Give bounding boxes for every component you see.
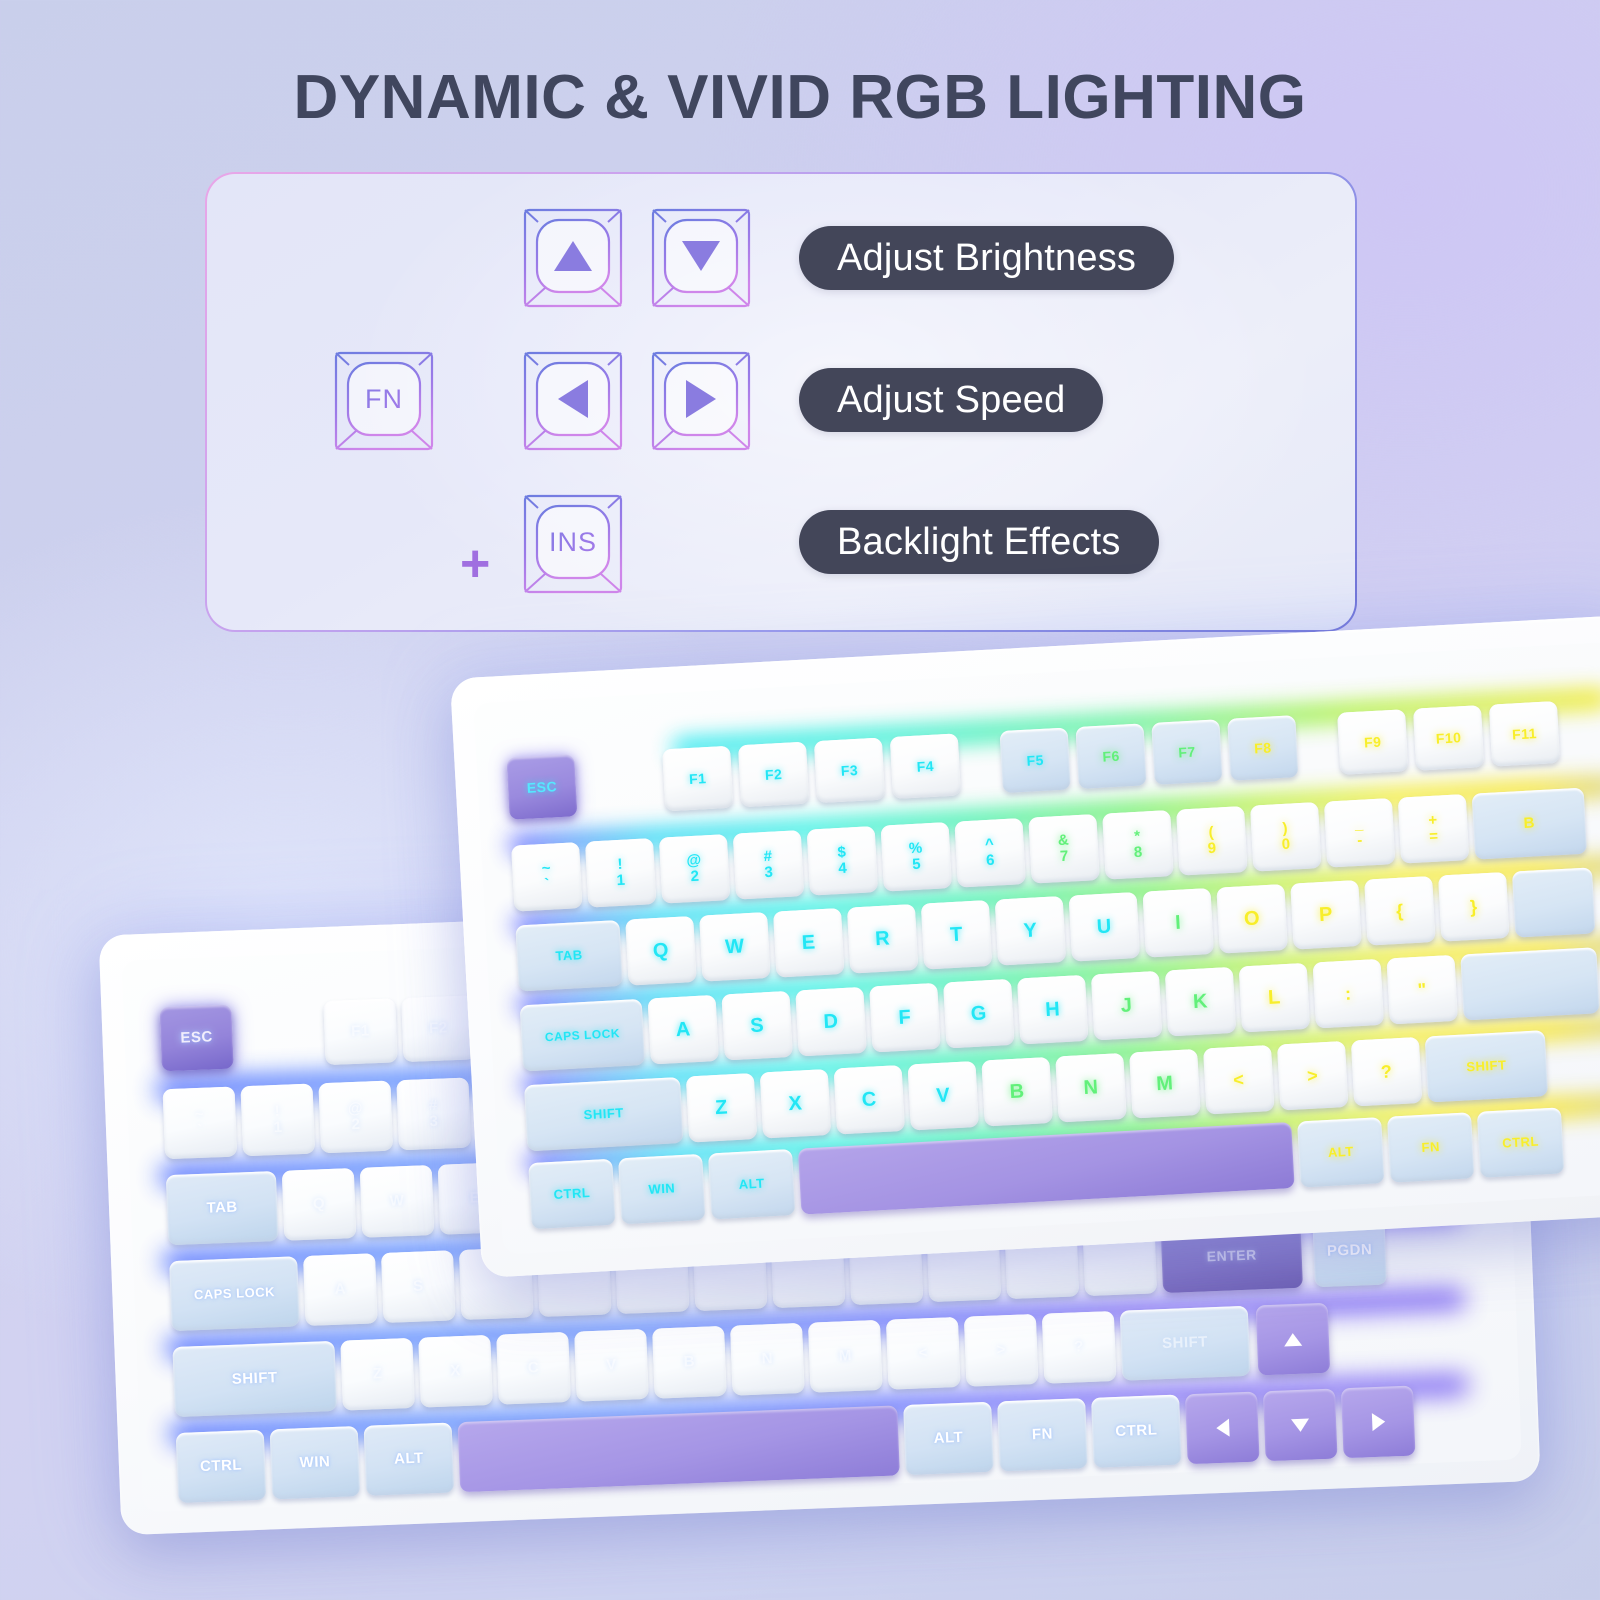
key-legend-bottom: 0	[1281, 837, 1291, 853]
key-fn[interactable]: FN	[1387, 1112, 1474, 1182]
key-u[interactable]: U	[1069, 892, 1140, 962]
key-a[interactable]: A	[303, 1253, 378, 1326]
key-bracket-right[interactable]: }	[1438, 872, 1509, 942]
key-e[interactable]: E	[773, 908, 844, 978]
key-s[interactable]: S	[381, 1250, 456, 1323]
key-legend-top: (	[1208, 825, 1214, 841]
key-legend-bottom: 5	[912, 857, 922, 873]
key-m[interactable]: M	[1129, 1049, 1200, 1119]
key-i[interactable]: I	[1142, 888, 1213, 958]
key-legend-bottom: 2	[351, 1117, 360, 1133]
key-f3[interactable]: F3	[814, 738, 885, 804]
key-legend-bottom: 3	[764, 865, 774, 881]
key-h[interactable]: H	[1017, 975, 1088, 1045]
key-a[interactable]: A	[648, 995, 719, 1065]
arrow-down-icon	[1291, 1418, 1309, 1432]
key-slash[interactable]: ?	[1042, 1311, 1117, 1384]
pill-backlight-effects: Backlight Effects	[799, 510, 1159, 574]
key-o[interactable]: O	[1216, 884, 1287, 954]
arrow-up-icon	[1284, 1332, 1302, 1346]
key-shift-right[interactable]: SHIFT	[1425, 1030, 1548, 1102]
key-legend-top: #	[429, 1098, 438, 1114]
key-s[interactable]: S	[721, 991, 792, 1061]
key-z[interactable]: Z	[686, 1073, 757, 1143]
keyboard-plate: ESC F1 F2 F3 F4 F5 F6 F7 F8 F9 F10 F11 ~…	[473, 642, 1600, 1255]
top-rgb-keyboard[interactable]: ESC F1 F2 F3 F4 F5 F6 F7 F8 F9 F10 F11 ~…	[450, 615, 1600, 1278]
keycap-arrow-right	[649, 349, 753, 453]
key-legend-bottom: -	[1357, 833, 1363, 849]
key-v[interactable]: V	[907, 1061, 978, 1131]
key-alt-right[interactable]: ALT	[903, 1402, 994, 1475]
key-z[interactable]: Z	[340, 1338, 415, 1411]
key-arrow-left[interactable]	[1185, 1392, 1260, 1465]
key-f10[interactable]: F10	[1413, 705, 1484, 771]
key-w[interactable]: W	[699, 912, 770, 982]
key-backtick[interactable]: ~ `	[163, 1087, 238, 1160]
key-4[interactable]: $ 4	[807, 826, 878, 896]
key-win[interactable]: WIN	[270, 1426, 361, 1499]
key-l[interactable]: L	[1239, 963, 1310, 1033]
key-esc[interactable]: ESC	[159, 1005, 233, 1072]
key-3[interactable]: # 3	[733, 830, 804, 900]
key-caps-lock[interactable]: CAPS LOCK	[520, 999, 645, 1072]
key-v[interactable]: V	[574, 1329, 649, 1402]
key-shift-left[interactable]: SHIFT	[524, 1077, 683, 1151]
key-t[interactable]: T	[921, 900, 992, 970]
key-f2[interactable]: F2	[738, 742, 809, 808]
key-9[interactable]: ( 9	[1176, 806, 1247, 876]
key-legend-top: @	[348, 1101, 364, 1117]
key-backspace[interactable]: B	[1472, 788, 1587, 860]
key-n[interactable]: N	[730, 1323, 805, 1396]
key-alt-left[interactable]: ALT	[364, 1422, 455, 1495]
key-tab[interactable]: TAB	[166, 1171, 279, 1245]
key-arrow-down[interactable]	[1263, 1389, 1338, 1462]
key-j[interactable]: J	[1091, 971, 1162, 1041]
key-legend-top: !	[617, 857, 623, 873]
ins-key-label: INS	[521, 492, 625, 596]
key-legend-top: !	[274, 1104, 280, 1120]
key-legend-bottom: 8	[1134, 845, 1144, 861]
pill-adjust-brightness: Adjust Brightness	[799, 226, 1174, 290]
arrow-left-icon	[1215, 1419, 1229, 1437]
key-x[interactable]: X	[418, 1335, 493, 1408]
key-1[interactable]: ! 1	[585, 838, 656, 908]
key-g[interactable]: G	[943, 979, 1014, 1049]
key-legend-bottom: 1	[616, 873, 626, 889]
key-c[interactable]: C	[496, 1332, 571, 1405]
keycap-arrow-up	[521, 206, 625, 310]
key-period[interactable]: >	[964, 1314, 1039, 1387]
arrow-right-icon	[1371, 1413, 1385, 1431]
key-2[interactable]: @ 2	[318, 1081, 393, 1154]
key-3[interactable]: # 3	[396, 1078, 471, 1151]
key-legend-top: %	[908, 841, 923, 857]
fn-key-label: FN	[332, 349, 436, 453]
key-q[interactable]: Q	[625, 916, 696, 986]
key-enter[interactable]	[1460, 947, 1599, 1020]
key-q[interactable]: Q	[282, 1168, 357, 1241]
key-f[interactable]: F	[869, 983, 940, 1053]
key-d[interactable]: D	[795, 987, 866, 1057]
pill-adjust-speed: Adjust Speed	[799, 368, 1103, 432]
key-k[interactable]: K	[1165, 967, 1236, 1037]
key-p[interactable]: P	[1290, 880, 1361, 950]
key-0[interactable]: ) 0	[1250, 802, 1321, 872]
key-slash[interactable]: ?	[1351, 1037, 1422, 1107]
key-legend-bottom: 4	[838, 861, 848, 877]
key-f1[interactable]: F1	[662, 746, 733, 812]
key-backtick[interactable]: ~ `	[511, 842, 582, 912]
key-semicolon[interactable]: :	[1313, 959, 1384, 1029]
key-ctrl-right[interactable]: CTRL	[1477, 1107, 1564, 1177]
keycap-fn: FN	[332, 349, 436, 453]
key-legend-bottom: `	[544, 877, 550, 893]
key-b[interactable]: B	[652, 1326, 727, 1399]
key-n[interactable]: N	[1055, 1053, 1126, 1123]
key-alt-right[interactable]: ALT	[1297, 1117, 1384, 1187]
key-f8[interactable]: F8	[1227, 715, 1298, 781]
key-6[interactable]: ^ 6	[954, 818, 1025, 888]
arrow-down-icon	[649, 206, 753, 310]
key-f9[interactable]: F9	[1337, 709, 1408, 775]
key-legend-bottom: =	[1429, 829, 1439, 845]
key-alt-left[interactable]: ALT	[708, 1149, 795, 1219]
key-f11[interactable]: F11	[1489, 701, 1560, 767]
key-equal[interactable]: + =	[1398, 794, 1469, 864]
key-f4[interactable]: F4	[890, 733, 961, 799]
key-ctrl-left[interactable]: CTRL	[528, 1159, 615, 1229]
key-legend-bottom: 2	[690, 869, 700, 885]
key-legend-top: @	[686, 853, 702, 870]
key-comma[interactable]: <	[1203, 1045, 1274, 1115]
key-y[interactable]: Y	[995, 896, 1066, 966]
key-legend-bottom: 7	[1060, 849, 1070, 865]
key-f2[interactable]: F2	[401, 995, 475, 1062]
key-x[interactable]: X	[760, 1069, 831, 1139]
key-legend-top: *	[1134, 829, 1141, 845]
key-c[interactable]: C	[834, 1065, 905, 1135]
key-f1[interactable]: F1	[323, 998, 397, 1065]
key-legend-bottom: 6	[986, 853, 996, 869]
key-1[interactable]: ! 1	[240, 1084, 315, 1157]
key-m[interactable]: M	[808, 1320, 883, 1393]
key-ctrl-right[interactable]: CTRL	[1091, 1395, 1182, 1468]
key-shift-left[interactable]: SHIFT	[172, 1341, 337, 1417]
key-backslash[interactable]	[1512, 867, 1595, 937]
key-arrow-right[interactable]	[1341, 1386, 1416, 1459]
page-title: DYNAMIC & VIVID RGB LIGHTING	[0, 62, 1600, 133]
key-quote[interactable]: "	[1386, 955, 1457, 1025]
key-legend-top: )	[1282, 821, 1288, 837]
key-tab[interactable]: TAB	[515, 920, 622, 992]
key-f5[interactable]: F5	[1000, 727, 1071, 793]
instruction-panel: Adjust Brightness FN +	[205, 172, 1357, 632]
key-period[interactable]: >	[1277, 1041, 1348, 1111]
keycap-arrow-down	[649, 206, 753, 310]
key-f7[interactable]: F7	[1151, 719, 1222, 785]
key-ctrl-left[interactable]: CTRL	[176, 1430, 267, 1503]
keycap-arrow-left	[521, 349, 625, 453]
key-fn[interactable]: FN	[997, 1398, 1088, 1471]
key-7[interactable]: & 7	[1028, 814, 1099, 884]
key-legend-top: _	[1354, 817, 1364, 833]
key-legend-bottom: 9	[1207, 841, 1217, 857]
key-8[interactable]: * 8	[1102, 810, 1173, 880]
key-f6[interactable]: F6	[1075, 723, 1146, 789]
key-5[interactable]: % 5	[881, 822, 952, 892]
keycap-ins: INS	[521, 492, 625, 596]
key-minus[interactable]: _ -	[1324, 798, 1395, 868]
key-caps-lock[interactable]: CAPS LOCK	[169, 1256, 300, 1331]
key-esc[interactable]: ESC	[506, 754, 577, 820]
key-comma[interactable]: <	[886, 1317, 961, 1390]
key-2[interactable]: @ 2	[659, 834, 730, 904]
key-win[interactable]: WIN	[618, 1154, 705, 1224]
key-b[interactable]: B	[981, 1057, 1052, 1127]
key-bracket-left[interactable]: {	[1364, 876, 1435, 946]
arrow-right-icon	[649, 349, 753, 453]
arrow-left-icon	[521, 349, 625, 453]
key-legend-top: ~	[541, 861, 551, 877]
key-w[interactable]: W	[360, 1165, 435, 1238]
plus-symbol: +	[460, 538, 490, 590]
key-shift-right[interactable]: SHIFT	[1120, 1306, 1251, 1381]
key-legend-bottom: 1	[273, 1120, 282, 1136]
key-r[interactable]: R	[847, 904, 918, 974]
key-legend-bottom: 3	[429, 1114, 438, 1130]
arrow-up-icon	[521, 206, 625, 310]
key-arrow-up[interactable]	[1256, 1303, 1331, 1376]
key-legend-top: ~	[195, 1107, 205, 1123]
key-legend-bottom: `	[197, 1123, 203, 1139]
